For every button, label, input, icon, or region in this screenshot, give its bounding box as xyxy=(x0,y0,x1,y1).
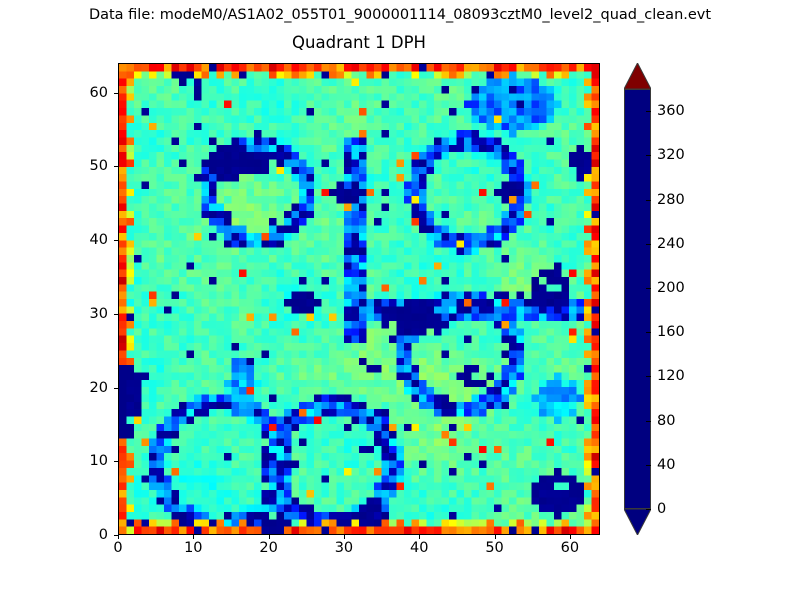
figure-suptitle: Data file: modeM0/AS1A02_055T01_90000011… xyxy=(0,6,800,24)
colorbar-tick-mark xyxy=(646,288,651,289)
x-tick-label: 0 xyxy=(113,540,122,556)
colorbar-under-arrow-icon xyxy=(624,509,651,535)
y-tick-label: 50 xyxy=(70,158,108,174)
colorbar-over-arrow-icon xyxy=(624,63,651,89)
colorbar-tick-mark xyxy=(646,200,651,201)
x-tick-label: 20 xyxy=(259,540,277,556)
y-tick-label: 60 xyxy=(70,85,108,101)
colorbar-tick-label: 320 xyxy=(657,147,685,163)
colorbar-tick-label: 200 xyxy=(657,280,685,296)
colorbar-tick-mark xyxy=(646,244,651,245)
colorbar-tick-label: 40 xyxy=(657,457,675,473)
y-tick-label: 30 xyxy=(70,306,108,322)
colorbar-tick-label: 80 xyxy=(657,413,675,429)
y-tick-mark xyxy=(114,461,118,462)
colorbar-gradient xyxy=(625,90,650,508)
colorbar-gradient-body xyxy=(624,89,651,509)
colorbar-tick-label: 240 xyxy=(657,236,685,252)
x-tick-mark xyxy=(118,535,119,539)
colorbar-tick-label: 160 xyxy=(657,324,685,340)
colorbar-tick-mark xyxy=(646,111,651,112)
colorbar-tick-mark xyxy=(646,465,651,466)
y-tick-label: 20 xyxy=(70,380,108,396)
y-tick-mark xyxy=(114,535,118,536)
x-tick-mark xyxy=(570,535,571,539)
x-tick-mark xyxy=(344,535,345,539)
colorbar-tick-mark xyxy=(646,332,651,333)
x-tick-mark xyxy=(495,535,496,539)
y-tick-mark xyxy=(114,166,118,167)
colorbar-tick-mark xyxy=(646,376,651,377)
y-tick-mark xyxy=(114,93,118,94)
y-tick-mark xyxy=(114,388,118,389)
heatmap-axes xyxy=(118,63,600,535)
x-tick-mark xyxy=(269,535,270,539)
x-tick-label: 60 xyxy=(561,540,579,556)
x-tick-label: 50 xyxy=(485,540,503,556)
heatmap-image xyxy=(119,64,599,534)
colorbar-tick-mark xyxy=(646,421,651,422)
x-tick-label: 30 xyxy=(335,540,353,556)
x-tick-mark xyxy=(419,535,420,539)
y-tick-mark xyxy=(114,240,118,241)
x-tick-label: 40 xyxy=(410,540,428,556)
y-tick-mark xyxy=(114,314,118,315)
colorbar-tick-mark xyxy=(646,155,651,156)
colorbar-tick-label: 120 xyxy=(657,368,685,384)
y-tick-label: 10 xyxy=(70,453,108,469)
colorbar-tick-label: 360 xyxy=(657,103,685,119)
colorbar-tick-label: 0 xyxy=(657,501,666,517)
colorbar-tick-mark xyxy=(646,509,651,510)
x-tick-mark xyxy=(193,535,194,539)
axes-title: Quadrant 1 DPH xyxy=(118,33,600,53)
y-tick-label: 0 xyxy=(70,527,108,543)
colorbar-tick-label: 280 xyxy=(657,192,685,208)
x-tick-label: 10 xyxy=(184,540,202,556)
y-tick-label: 40 xyxy=(70,232,108,248)
figure-canvas: Data file: modeM0/AS1A02_055T01_90000011… xyxy=(0,0,800,600)
